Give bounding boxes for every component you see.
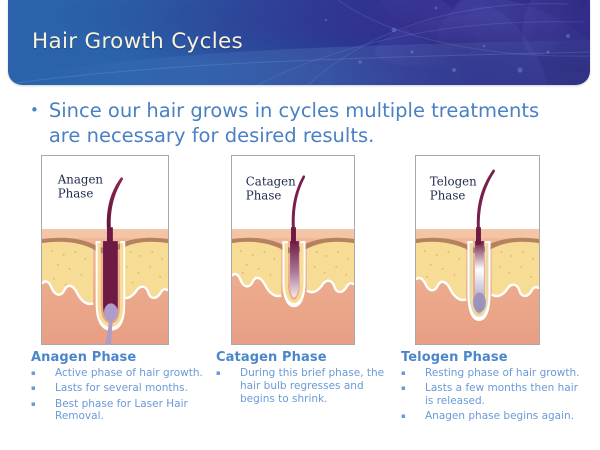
caption-catagen: Catagen Phase ▪ During this brief phase,…	[216, 350, 396, 407]
figure-label-line2: Phase	[246, 189, 282, 203]
bullet-marker-icon: •	[30, 99, 39, 148]
figure-label-line1: Telogen	[430, 175, 477, 189]
list-item: ▪ Resting phase of hair growth.	[401, 367, 586, 380]
square-bullet-icon: ▪	[31, 398, 55, 424]
caption-list: ▪ Active phase of hair growth. ▪ Lasts f…	[31, 367, 206, 423]
figure-label-line1: Anagen	[57, 173, 104, 187]
anagen-phase-illustration: Anagen Phase	[42, 156, 168, 344]
caption-list: ▪ Resting phase of hair growth. ▪ Lasts …	[401, 367, 586, 423]
list-item-text: Best phase for Laser Hair Removal.	[55, 398, 206, 424]
square-bullet-icon: ▪	[401, 410, 425, 423]
lead-bullet-text: Since our hair grows in cycles multiple …	[49, 99, 575, 148]
figure-row: Anagen Phase	[0, 155, 600, 347]
page-title: Hair Growth Cycles	[32, 29, 243, 54]
list-item-text: Lasts for several months.	[55, 382, 206, 395]
list-item: ▪ Best phase for Laser Hair Removal.	[31, 398, 206, 424]
caption-telogen: Telogen Phase ▪ Resting phase of hair gr…	[401, 350, 586, 425]
square-bullet-icon: ▪	[216, 367, 240, 405]
telogen-phase-illustration: Telogen Phase	[416, 156, 539, 344]
caption-heading: Telogen Phase	[401, 350, 586, 365]
figure-anagen: Anagen Phase	[41, 155, 169, 345]
list-item: ▪ During this brief phase, the hair bulb…	[216, 367, 396, 405]
slide-title-banner: Hair Growth Cycles	[8, 0, 590, 85]
list-item: ▪ Anagen phase begins again.	[401, 410, 586, 423]
square-bullet-icon: ▪	[31, 367, 55, 380]
figure-catagen: Catagen Phase	[231, 155, 355, 345]
list-item: ▪ Active phase of hair growth.	[31, 367, 206, 380]
list-item-text: Resting phase of hair growth.	[425, 367, 586, 380]
figure-telogen: Telogen Phase	[415, 155, 540, 345]
list-item-text: Anagen phase begins again.	[425, 410, 586, 423]
caption-heading: Catagen Phase	[216, 350, 396, 365]
list-item: ▪ Lasts a few months then hair is releas…	[401, 382, 586, 408]
lead-bullet-row: • Since our hair grows in cycles multipl…	[30, 99, 575, 148]
list-item: ▪ Lasts for several months.	[31, 382, 206, 395]
list-item-text: During this brief phase, the hair bulb r…	[240, 367, 396, 405]
catagen-phase-illustration: Catagen Phase	[232, 156, 354, 344]
list-item-text: Lasts a few months then hair is released…	[425, 382, 586, 408]
figure-label-line2: Phase	[430, 189, 466, 203]
square-bullet-icon: ▪	[401, 382, 425, 408]
caption-list: ▪ During this brief phase, the hair bulb…	[216, 367, 396, 405]
square-bullet-icon: ▪	[31, 382, 55, 395]
square-bullet-icon: ▪	[401, 367, 425, 380]
caption-heading: Anagen Phase	[31, 350, 206, 365]
caption-anagen: Anagen Phase ▪ Active phase of hair grow…	[31, 350, 206, 425]
figure-label-line2: Phase	[58, 187, 94, 201]
figure-label-line1: Catagen	[246, 175, 296, 189]
list-item-text: Active phase of hair growth.	[55, 367, 206, 380]
